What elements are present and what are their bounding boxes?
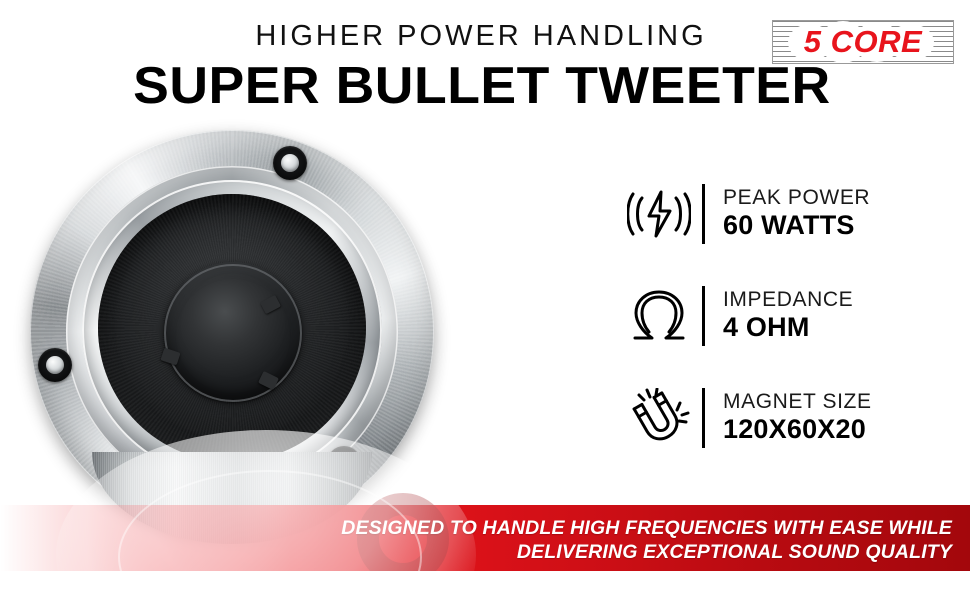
spec-label: IMPEDANCE xyxy=(723,289,954,311)
ohm-icon xyxy=(624,284,694,348)
mounting-screw-hole xyxy=(273,146,307,180)
product-banner: HIGHER POWER HANDLING SUPER BULLET TWEET… xyxy=(0,0,970,600)
spec-list: PEAK POWER 60 WATTS IMPEDANCE 4 OHM xyxy=(624,172,954,478)
footer-tagline-line2: DELIVERING EXCEPTIONAL SOUND QUALITY xyxy=(332,541,952,565)
power-bolt-icon xyxy=(624,182,694,246)
page-title: SUPER BULLET TWEETER xyxy=(0,60,970,112)
spec-divider xyxy=(702,286,705,346)
footer-tagline-line1: DESIGNED TO HANDLE HIGH FREQUENCIES WITH… xyxy=(332,517,952,541)
brand-logo-text: 5 CORE xyxy=(772,20,954,64)
footer-tagline: DESIGNED TO HANDLE HIGH FREQUENCIES WITH… xyxy=(332,517,952,565)
spec-value: 60 WATTS xyxy=(723,211,954,240)
spec-divider xyxy=(702,388,705,448)
spec-row-magnet-size: MAGNET SIZE 120X60X20 xyxy=(624,376,954,460)
spec-value: 4 OHM xyxy=(723,313,954,342)
mounting-screw-hole xyxy=(38,348,72,382)
spec-label: MAGNET SIZE xyxy=(723,391,954,413)
spec-label: PEAK POWER xyxy=(723,187,954,209)
spec-row-peak-power: PEAK POWER 60 WATTS xyxy=(624,172,954,256)
product-image-tweeter xyxy=(14,122,454,552)
footer-red-band: DESIGNED TO HANDLE HIGH FREQUENCIES WITH… xyxy=(0,505,970,571)
spec-row-impedance: IMPEDANCE 4 OHM xyxy=(624,274,954,358)
magnet-icon xyxy=(624,386,694,450)
brand-logo: 5 CORE xyxy=(772,20,954,64)
spec-text-block: PEAK POWER 60 WATTS xyxy=(723,187,954,240)
spec-text-block: IMPEDANCE 4 OHM xyxy=(723,289,954,342)
footer-white-strip xyxy=(0,571,970,600)
spec-value: 120X60X20 xyxy=(723,415,954,444)
phase-plug-ring xyxy=(164,264,302,402)
spec-divider xyxy=(702,184,705,244)
spec-text-block: MAGNET SIZE 120X60X20 xyxy=(723,391,954,444)
